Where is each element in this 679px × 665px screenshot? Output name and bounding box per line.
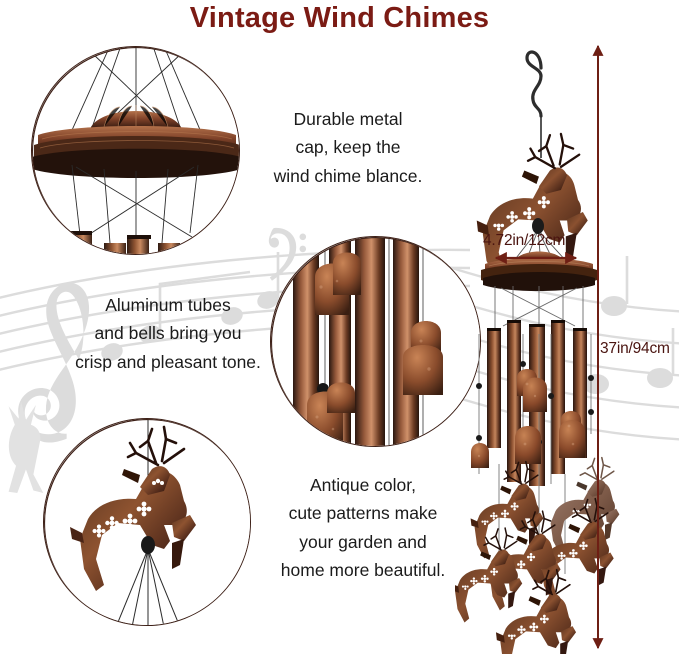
feature-line: Antique color, <box>265 471 461 499</box>
deer-silhouette-decoration <box>9 401 44 493</box>
metal-cap-closeup <box>31 46 240 255</box>
feature-line: crisp and pleasant tone. <box>58 348 278 376</box>
width-dimension-label: 4.72in/12cm <box>483 232 565 250</box>
s-hook-icon <box>527 52 541 116</box>
product-infographic: Vintage Wind Chimes <box>0 0 679 665</box>
feature-text-tubes-bells: Aluminum tubes and bells bring you crisp… <box>58 291 278 376</box>
feature-line: cute patterns make <box>265 499 461 527</box>
feature-line: wind chime blance. <box>248 162 448 190</box>
height-dimension-label: 37in/94cm <box>600 340 670 358</box>
feature-line: home more beautiful. <box>265 556 461 584</box>
deer-pendant-5 <box>455 528 522 622</box>
feature-line: cap, keep the <box>248 133 448 161</box>
deer-pendant-closeup <box>43 418 251 626</box>
feature-text-metal-cap: Durable metal cap, keep the wind chime b… <box>248 105 448 190</box>
feature-line: your garden and <box>265 528 461 556</box>
feature-line: and bells bring you <box>58 319 278 347</box>
feature-line: Aluminum tubes <box>58 291 278 319</box>
feature-text-antique-deer: Antique color, cute patterns make your g… <box>265 471 461 584</box>
tubes-and-bells-closeup <box>270 236 481 447</box>
page-title: Vintage Wind Chimes <box>0 2 679 35</box>
feature-line: Durable metal <box>248 105 448 133</box>
